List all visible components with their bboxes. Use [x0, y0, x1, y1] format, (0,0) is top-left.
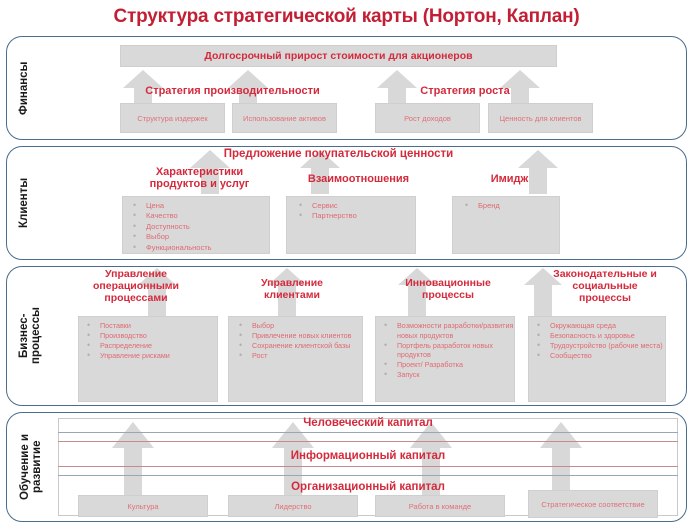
- processes-heading-2: Управление клиентами: [222, 278, 362, 302]
- finance-heading-growth: Стратегия роста: [380, 85, 550, 97]
- bullet-item: Сохранение клиентской базы: [239, 341, 363, 351]
- processes-bullet-list-3: Возможности разработки/развития новых пр…: [384, 321, 516, 380]
- bullet-item: Выбор: [239, 321, 363, 331]
- perspective-label-learning: Обучение и развитие: [7, 413, 55, 521]
- finance-box-label: Ценность для клиентов: [489, 104, 592, 132]
- processes-column-box-4: Окружающая средаБезопасность и здоровьеТ…: [528, 316, 666, 402]
- strategy-map-canvas: Структура стратегической карты (Нортон, …: [0, 0, 693, 527]
- learning-box-label: Лидерство: [229, 496, 357, 516]
- bullet-item: Поставки: [87, 321, 219, 331]
- processes-column-box-2: ВыборПривлечение новых клиентовСохранени…: [228, 316, 363, 402]
- learning-box-label: Стратегическое соответствие: [529, 491, 657, 517]
- clients-bullet-list-1: ЦенаКачествоДоступностьВыборФункциональн…: [133, 201, 212, 253]
- bullet-item: Трудоустройство (рабочие места): [537, 341, 667, 351]
- clients-column-box-2: СервисПартнерство: [286, 196, 416, 254]
- bullet-item: Функциональность: [133, 243, 212, 253]
- processes-bullet-list-2: ВыборПривлечение новых клиентовСохранени…: [239, 321, 363, 361]
- bullet-item: Сервис: [299, 201, 357, 211]
- finance-box-revenue-growth: Рост доходов: [375, 103, 480, 133]
- bullet-item: Запуск: [384, 370, 516, 380]
- bullet-item: Возможности разработки/развития новых пр…: [384, 321, 516, 340]
- clients-heading-product-features: Характеристики продуктов и услуг: [122, 166, 277, 191]
- clients-heading-relationships: Взаимоотношения: [286, 173, 431, 185]
- learning-box-label: Работа в команде: [376, 496, 504, 516]
- perspective-label-finance: Финансы: [7, 37, 41, 139]
- bullet-item: Качество: [133, 211, 212, 221]
- learning-box-label: Культура: [79, 496, 207, 516]
- finance-box-customer-value: Ценность для клиентов: [488, 103, 593, 133]
- learning-box-culture: Культура: [78, 495, 208, 517]
- learning-divider-4: [58, 475, 678, 476]
- processes-heading-4: Законодательные и социальные процессы: [526, 269, 684, 304]
- finance-banner-box: Долгосрочный прирост стоимости для акцио…: [120, 45, 557, 67]
- learning-box-strategic-alignment: Стратегическое соответствие: [528, 490, 658, 518]
- processes-heading-1: Управление операционными процессами: [62, 269, 210, 304]
- clients-bullet-list-2: СервисПартнерство: [299, 201, 357, 222]
- learning-divider-3: [58, 466, 678, 467]
- bullet-item: Портфель разработок новых продуктов: [384, 341, 516, 360]
- clients-column-box-3: Бренд: [452, 196, 560, 254]
- bullet-item: Доступность: [133, 222, 212, 232]
- learning-divider-1: [58, 432, 678, 433]
- learning-box-leadership: Лидерство: [228, 495, 358, 517]
- learning-divider-2: [58, 441, 678, 442]
- perspective-label-clients: Клиенты: [7, 147, 41, 259]
- clients-bullet-list-3: Бренд: [465, 201, 500, 211]
- finance-banner-text: Долгосрочный прирост стоимости для акцио…: [121, 50, 556, 62]
- bullet-item: Сообщество: [537, 351, 667, 361]
- learning-box-teamwork: Работа в команде: [375, 495, 505, 517]
- processes-bullet-list-1: ПоставкиПроизводствоРаспределениеУправле…: [87, 321, 219, 361]
- clients-heading-image: Имидж: [452, 173, 567, 185]
- processes-column-box-3: Возможности разработки/развития новых пр…: [375, 316, 515, 402]
- bullet-item: Управление рисками: [87, 351, 219, 361]
- learning-band-information-capital: Информационный капитал: [58, 450, 678, 463]
- finance-box-label: Использование активов: [233, 104, 336, 132]
- bullet-item: Производство: [87, 331, 219, 341]
- bullet-item: Бренд: [465, 201, 500, 211]
- finance-heading-productivity: Стратегия производительности: [120, 85, 345, 97]
- processes-column-box-1: ПоставкиПроизводствоРаспределениеУправле…: [78, 316, 218, 402]
- bullet-item: Рост: [239, 351, 363, 361]
- bullet-item: Распределение: [87, 341, 219, 351]
- learning-band-human-capital: Человеческий капитал: [58, 417, 678, 430]
- finance-box-asset-use: Использование активов: [232, 103, 337, 133]
- bullet-item: Цена: [133, 201, 212, 211]
- page-title: Структура стратегической карты (Нортон, …: [0, 6, 693, 28]
- bullet-item: Безопасность и здоровье: [537, 331, 667, 341]
- processes-bullet-list-4: Окружающая средаБезопасность и здоровьеТ…: [537, 321, 667, 361]
- bullet-item: Привлечение новых клиентов: [239, 331, 363, 341]
- bullet-item: Выбор: [133, 232, 212, 242]
- bullet-item: Проект/ Разработка: [384, 360, 516, 370]
- processes-heading-3: Инновационные процессы: [378, 278, 518, 302]
- finance-box-label: Рост доходов: [376, 104, 479, 132]
- finance-box-label: Структура издержек: [121, 104, 224, 132]
- bullet-item: Окружающая среда: [537, 321, 667, 331]
- perspective-label-processes: Бизнес- процессы: [7, 267, 53, 405]
- clients-banner-text: Предложение покупательской ценности: [120, 148, 557, 161]
- finance-box-cost-structure: Структура издержек: [120, 103, 225, 133]
- clients-column-box-1: ЦенаКачествоДоступностьВыборФункциональн…: [122, 196, 270, 254]
- bullet-item: Партнерство: [299, 211, 357, 221]
